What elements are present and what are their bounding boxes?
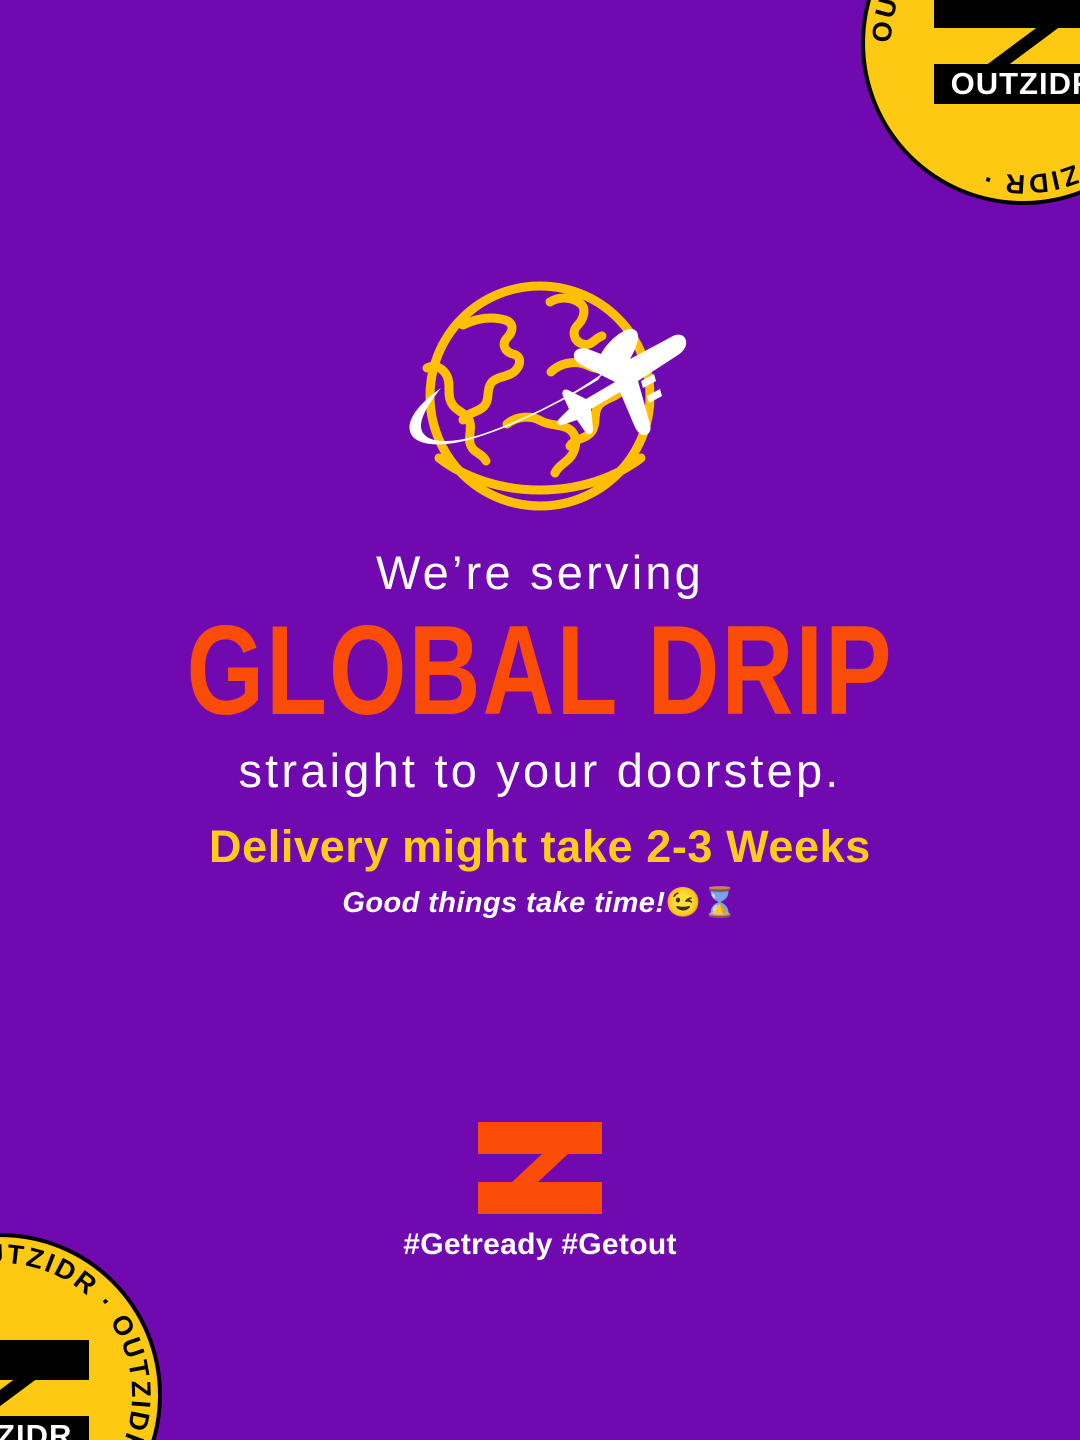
delivery-subtext-label: Good things take time! <box>342 887 665 919</box>
headline-line-serving: We’re serving <box>0 548 1080 598</box>
globe-airplane-icon <box>355 272 725 520</box>
delivery-subtext: Good things take time!😉⌛ <box>0 886 1080 920</box>
badge-top-right: OUTZIDR · OUTZIDR · OUTZIDR · OUTZIDR · … <box>858 0 1080 208</box>
brand-z-logo <box>478 1122 602 1214</box>
delivery-notice-block: Delivery might take 2-3 Weeks Good thing… <box>0 822 1080 920</box>
globe-icon <box>427 286 650 506</box>
footer-block: #Getready #Getout <box>0 1122 1080 1262</box>
promo-poster: OUTZIDR · OUTZIDR · OUTZIDR · OUTZIDR · … <box>0 0 1080 1440</box>
headline-line-doorstep: straight to your doorstep. <box>0 746 1080 796</box>
svg-text:OUTZIDR: OUTZIDR <box>951 66 1080 101</box>
headline-block: We’re serving GLOBAL DRIP straight to yo… <box>0 548 1080 796</box>
wink-hourglass-emoji: 😉⌛ <box>665 887 737 919</box>
badge-top-wordmark: OUTZIDR <box>934 64 1080 104</box>
svg-text:OUTZIDR: OUTZIDR <box>0 1418 72 1440</box>
delivery-timeframe-text: Delivery might take 2-3 Weeks <box>0 822 1080 872</box>
headline-global-drip: GLOBAL DRIP <box>22 608 1059 735</box>
hashtags-text: #Getready #Getout <box>0 1228 1080 1262</box>
badge-bottom-wordmark: OUTZIDR <box>0 1416 89 1440</box>
